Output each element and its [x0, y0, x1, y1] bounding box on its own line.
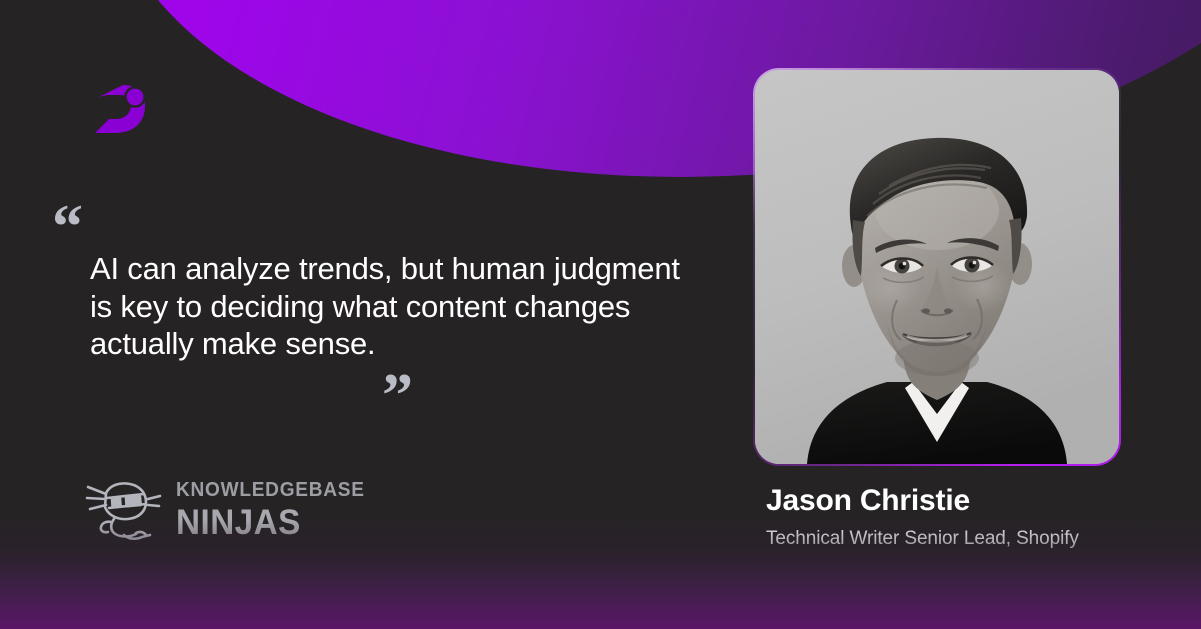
- knowledgebase-ninjas-wordmark: KNOWLEDGEBASE NINJAS: [176, 480, 379, 540]
- publisher-word-bottom: NINJAS: [176, 505, 369, 540]
- knowledgebase-ninjas-logo: KNOWLEDGEBASE NINJAS: [84, 477, 379, 543]
- attribution: Jason Christie Technical Writer Senior L…: [766, 484, 1079, 550]
- quote-block: “ AI can analyze trends, but human judgm…: [52, 196, 712, 411]
- person-name: Jason Christie: [766, 484, 1079, 518]
- publisher-word-top: KNOWLEDGEBASE: [176, 480, 365, 501]
- ninja-character-icon: [84, 477, 162, 543]
- quote-open-mark: “: [52, 196, 712, 236]
- portrait-frame: [753, 68, 1121, 466]
- person-title: Technical Writer Senior Lead, Shopify: [766, 528, 1079, 551]
- document360-d-logo: [93, 79, 149, 137]
- quote-text: AI can analyze trends, but human judgmen…: [90, 250, 712, 363]
- quote-card: “ AI can analyze trends, but human judgm…: [0, 0, 1201, 629]
- portrait-photo: [755, 70, 1119, 464]
- quote-close-mark: ”: [382, 365, 712, 411]
